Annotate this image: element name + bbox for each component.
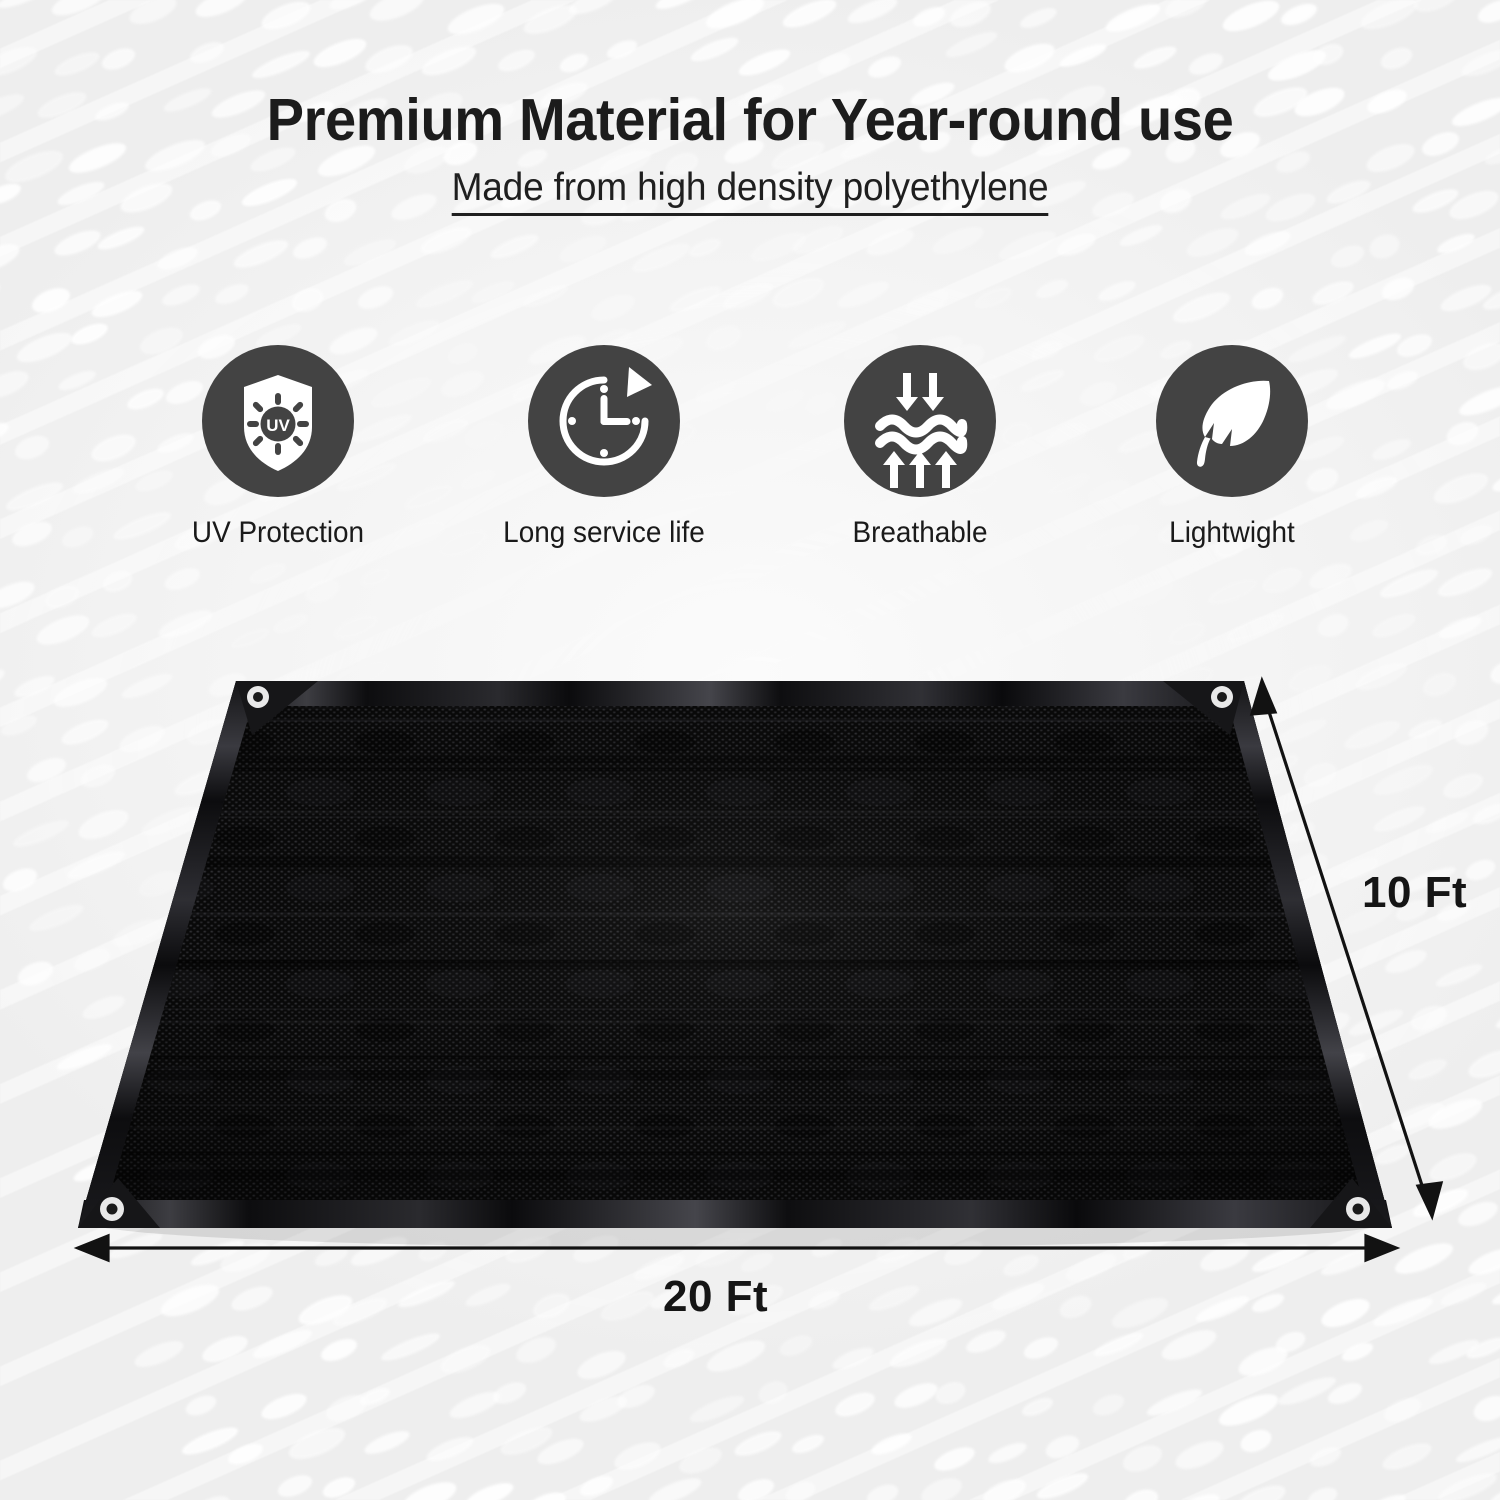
grommet-tl xyxy=(247,686,269,708)
feather-icon xyxy=(1156,345,1308,497)
infographic-canvas: Premium Material for Year-round use Made… xyxy=(0,0,1500,1500)
cloth-tape-right xyxy=(1222,681,1392,1228)
page-subtitle: Made from high density polyethylene xyxy=(38,166,1463,210)
grommet-tr xyxy=(1211,686,1233,708)
feature-label-lightwight: Lightwight xyxy=(1125,516,1339,550)
corner-patch-tr xyxy=(1163,681,1244,735)
grommet-bl xyxy=(100,1197,124,1221)
feature-item-uv-protection: UV UV Protection xyxy=(163,345,393,550)
corner-patch-br xyxy=(1310,1178,1392,1228)
feature-item-long-service-life: Long service life xyxy=(489,345,719,550)
feature-label-long-service-life: Long service life xyxy=(497,516,711,550)
clock-refresh-icon xyxy=(528,345,680,497)
cloth-tape-bottom xyxy=(78,1200,1392,1228)
feature-label-uv-protection: UV Protection xyxy=(171,516,385,550)
page-subtitle-text: Made from high density polyethylene xyxy=(452,166,1049,216)
corner-patch-tl xyxy=(236,681,318,735)
uv-shield-icon: UV xyxy=(202,345,354,497)
cloth-tape-left xyxy=(78,681,259,1228)
dimension-arrow-width xyxy=(78,1236,1396,1260)
grommet-br xyxy=(1346,1197,1370,1221)
corner-patch-bl xyxy=(78,1178,160,1228)
dimension-label-height: 10 Ft xyxy=(1362,868,1467,918)
dimension-label-width: 20 Ft xyxy=(663,1272,768,1322)
svg-text:UV: UV xyxy=(266,416,290,435)
feature-list: UV UV Protection xyxy=(0,345,1500,565)
cloth-tape-top xyxy=(236,681,1244,706)
page-title: Premium Material for Year-round use xyxy=(38,86,1463,154)
breathable-airflow-icon xyxy=(844,345,996,497)
dimension-arrow-height xyxy=(1252,681,1441,1216)
feature-label-breathable: Breathable xyxy=(813,516,1027,550)
feature-item-lightwight: Lightwight xyxy=(1117,345,1347,550)
shade-cloth-panel xyxy=(60,670,1410,1240)
feature-item-breathable: Breathable xyxy=(805,345,1035,550)
